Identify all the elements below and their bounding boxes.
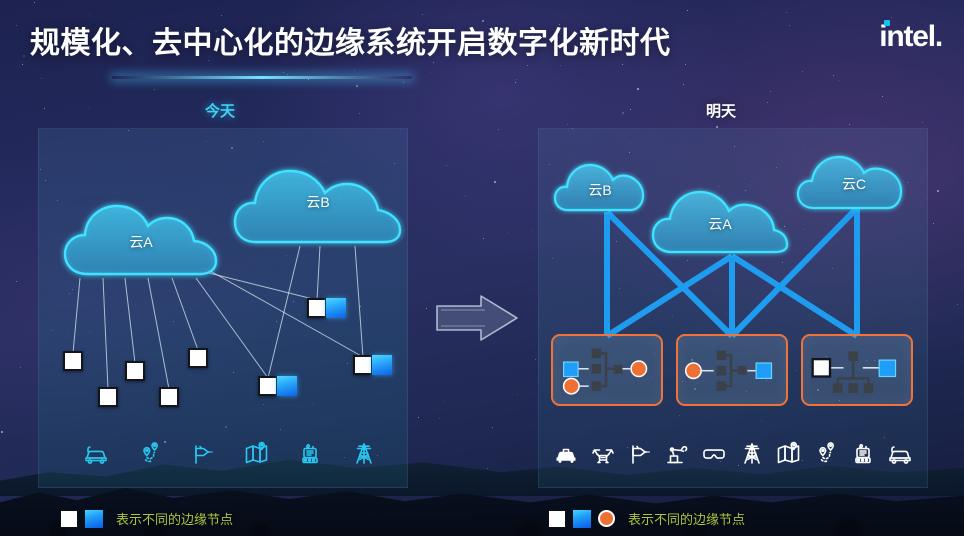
route-pin-icon (136, 440, 164, 468)
legend-swatch-orange-circle (598, 510, 615, 527)
robot-icon (296, 440, 324, 468)
edge-node-white[interactable] (98, 387, 118, 407)
robot-icon (849, 440, 877, 468)
edge-cluster-diagram-2 (678, 336, 786, 405)
camera-icon (626, 440, 654, 468)
intel-logo-dot (884, 20, 890, 26)
legend-today: 表示不同的边缘节点 (60, 509, 233, 528)
slide-canvas: 规模化、去中心化的边缘系统开启数字化新时代 intel. 今天 明天 (0, 0, 964, 536)
legend-tomorrow-text: 表示不同的边缘节点 (628, 509, 745, 528)
map-icon (243, 440, 271, 468)
edge-node-white[interactable] (188, 348, 208, 368)
map-icon (775, 440, 803, 468)
cloud-tomorrow-b: 云B (552, 158, 648, 216)
taxi-icon (552, 440, 580, 468)
legend-swatch-blue-square (573, 510, 591, 528)
transition-arrow (433, 292, 523, 344)
edge-node-pair[interactable] (353, 355, 392, 375)
edge-node-pair[interactable] (307, 298, 346, 318)
drone-icon (589, 440, 617, 468)
robot-arm-icon (663, 440, 691, 468)
edge-node-white[interactable] (125, 361, 145, 381)
page-title: 规模化、去中心化的边缘系统开启数字化新时代 (30, 18, 671, 62)
edge-cluster-diagram-1 (553, 336, 661, 405)
legend-swatch-blue-square (85, 510, 103, 528)
cloud-tomorrow-a: 云A (650, 184, 790, 258)
legend-tomorrow: 表示不同的边缘节点 (548, 509, 745, 528)
cloud-tomorrow-c: 云C (795, 150, 913, 214)
legend-swatch-white-square (60, 510, 78, 528)
edge-cluster-diagram-3 (803, 336, 911, 405)
cloud-today-b: 云B (232, 162, 404, 248)
car-icon (886, 440, 914, 468)
edge-cluster-box[interactable] (551, 334, 663, 406)
power-tower-icon (738, 440, 766, 468)
cloud-today-a: 云A (62, 196, 220, 280)
today-icon-row (82, 440, 378, 468)
power-tower-icon (350, 440, 378, 468)
route-pin-icon (812, 440, 840, 468)
edge-cluster-box[interactable] (801, 334, 913, 406)
tomorrow-icon-row (552, 440, 914, 468)
vr-goggles-icon (700, 440, 728, 468)
edge-node-white[interactable] (159, 387, 179, 407)
panel-label-tomorrow: 明天 (706, 100, 736, 121)
intel-logo-period: . (935, 20, 942, 53)
camera-icon (189, 440, 217, 468)
edge-node-white[interactable] (63, 351, 83, 371)
legend-swatch-white-square (548, 510, 566, 528)
edge-cluster-box[interactable] (676, 334, 788, 406)
panel-label-today: 今天 (205, 100, 235, 121)
title-underline-glow (112, 76, 412, 79)
car-icon (82, 440, 110, 468)
edge-node-pair[interactable] (258, 376, 297, 396)
intel-logo: intel. (879, 22, 942, 52)
legend-today-text: 表示不同的边缘节点 (116, 509, 233, 528)
